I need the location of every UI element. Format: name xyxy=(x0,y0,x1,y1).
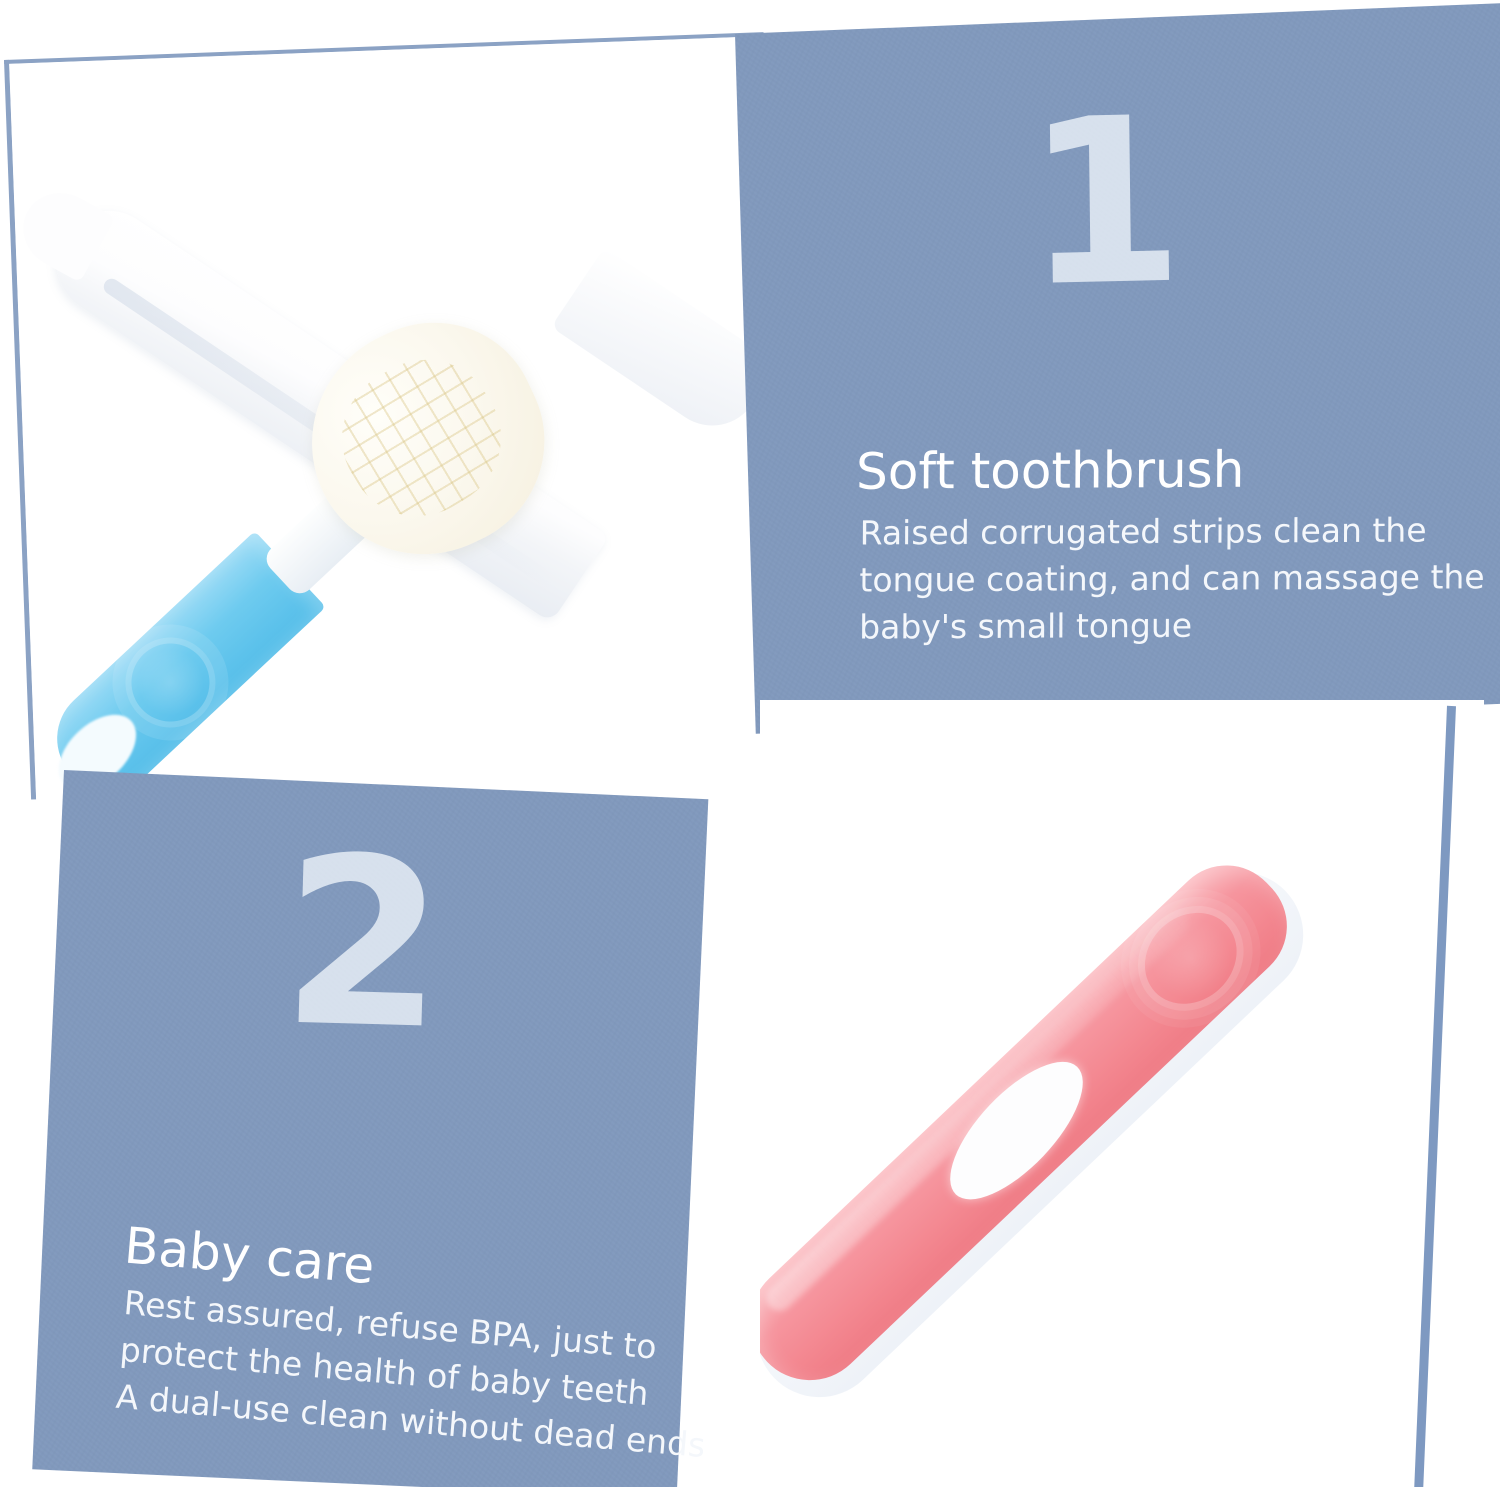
product-feature-image: 1 Soft toothbrush Raised corrugated stri… xyxy=(0,0,1500,1487)
photo-content-top-left xyxy=(9,36,790,799)
card-1-title: Soft toothbrush xyxy=(856,441,1245,501)
card-1-description: Raised corrugated strips clean the tongu… xyxy=(859,507,1485,651)
card-1-step-number: 1 xyxy=(1024,109,1185,295)
card-2-step-number: 2 xyxy=(280,850,447,1040)
card-1-description-line-2: tongue coating, and can massage the xyxy=(859,554,1484,604)
pink-toothbrush xyxy=(760,837,1329,1419)
blue-handled-spoon-brush xyxy=(36,415,450,799)
feature-card-2: 2 Baby care Rest assured, refuse BPA, ju… xyxy=(32,770,708,1487)
corrugated-grid-texture xyxy=(316,333,527,542)
pink-toothbrush-handle xyxy=(760,843,1310,1405)
card-2-description: Rest assured, refuse BPA, just to protec… xyxy=(114,1280,715,1470)
photo-panel-pink-toothbrush xyxy=(760,700,1484,1487)
card-1-description-line-3: baby's small tongue xyxy=(859,601,1484,651)
photo-panel-right-border xyxy=(1413,706,1456,1487)
photo-panel-toothbrush-and-spoon xyxy=(4,32,791,799)
card-1-description-line-1: Raised corrugated strips clean the xyxy=(860,507,1485,557)
feature-card-1: 1 Soft toothbrush Raised corrugated stri… xyxy=(735,2,1500,733)
